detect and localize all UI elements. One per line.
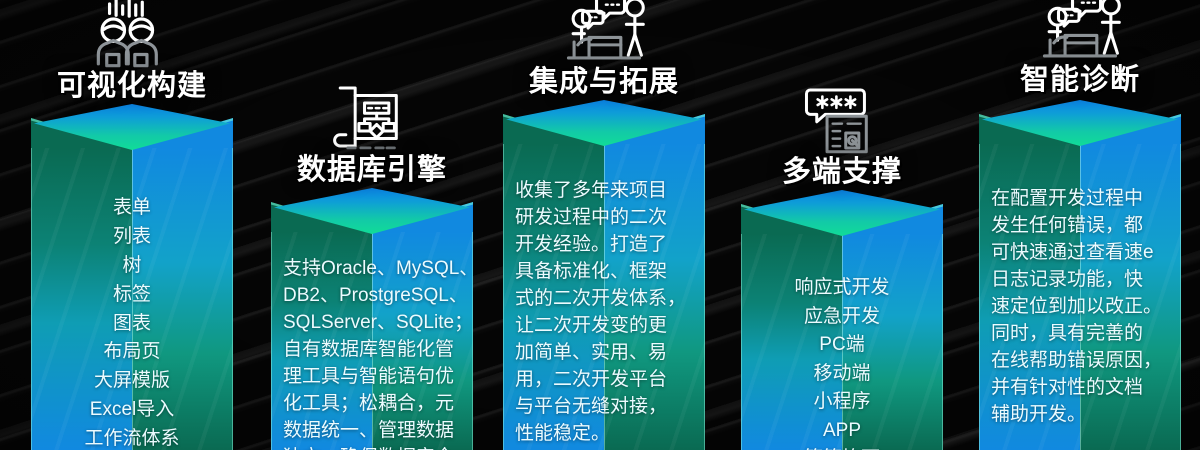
pillars-stage: 可视化构建表单列表树标签图表布局页大屏模版Excel导入工作流体系数据库引擎支持… [0, 0, 1200, 450]
pillar-text-line: 同时，具有完善的 [991, 321, 1169, 348]
pillar-box: 在配置开发过程中发生任何错误，都可快速通过查看速e日志记录功能，快速定位到加以改… [979, 114, 1181, 450]
pillar-text-line: 发生任何错误，都 [991, 213, 1169, 240]
pillar-text-line: 布局页 [43, 338, 221, 367]
pillar-text-line: 加简单、实用、易 [515, 340, 693, 367]
pillar-smart-diagnosis[interactable]: 智能诊断在配置开发过程中发生任何错误，都可快速通过查看速e日志记录功能，快速定位… [970, 0, 1190, 450]
people-chat-desk-icon [561, 0, 647, 66]
pillar-lid-face [274, 188, 470, 234]
pillar-text-block: 响应式开发应急开发PC端移动端小程序APP等等均可 [741, 234, 943, 450]
pillar-box: 响应式开发应急开发PC端移动端小程序APP等等均可 [741, 204, 943, 450]
pillar-text-line: 大屏模版 [43, 367, 221, 396]
pillar-text-line: 在配置开发过程中 [991, 186, 1169, 213]
pillar-lid [34, 104, 230, 150]
pillar-integration-extension[interactable]: 集成与拓展收集了多年来项目研发过程中的二次开发经验。打造了具备标准化、框架式的二… [494, 0, 714, 450]
pillar-text-line: 速定位到加以改正。 [991, 294, 1169, 321]
pillar-text-line: 响应式开发 [753, 274, 931, 303]
pillar-title: 智能诊断 [1020, 56, 1140, 98]
pillar-text-line: 支持Oracle、MySQL、 [283, 256, 461, 283]
pillar-lid-face [982, 100, 1178, 146]
pillar-text-line: SQLServer、SQLite； [283, 310, 461, 337]
pillar-text-line: 独立，确保数据安全。 [283, 445, 461, 450]
pillar-box-body: 响应式开发应急开发PC端移动端小程序APP等等均可 [741, 234, 943, 450]
pillar-text-line: 性能稳定。 [515, 421, 693, 448]
pillar-box: 表单列表树标签图表布局页大屏模版Excel导入工作流体系 [31, 118, 233, 450]
pillar-text-line: 树 [43, 252, 221, 281]
people-chat-desk-icon [1037, 0, 1123, 64]
pillar-lid-face [506, 100, 702, 146]
pillar-title: 可视化构建 [57, 62, 207, 104]
pillar-box: 收集了多年来项目研发过程中的二次开发经验。打造了具备标准化、框架式的二次开发体系… [503, 114, 705, 450]
pillar-visual-build[interactable]: 可视化构建表单列表树标签图表布局页大屏模版Excel导入工作流体系 [22, 0, 242, 450]
pillar-lid [744, 190, 940, 236]
pillar-lid-face [34, 104, 230, 150]
pillar-text-line: 应急开发 [753, 303, 931, 332]
pillar-box-body: 收集了多年来项目研发过程中的二次开发经验。打造了具备标准化、框架式的二次开发体系… [503, 144, 705, 450]
pillar-text-line: 用，二次开发平台 [515, 367, 693, 394]
two-users-icon [89, 0, 175, 70]
pillar-multi-terminal-support[interactable]: 多端支撑响应式开发应急开发PC端移动端小程序APP等等均可 [732, 0, 952, 450]
pillar-text-line: 化工具；松耦合，元 [283, 391, 461, 418]
pillar-text-line: 让二次开发变的更 [515, 313, 693, 340]
pillar-text-block: 收集了多年来项目研发过程中的二次开发经验。打造了具备标准化、框架式的二次开发体系… [503, 144, 705, 448]
pillar-title: 数据库引擎 [297, 146, 447, 188]
pillar-text-block: 表单列表树标签图表布局页大屏模版Excel导入工作流体系 [31, 148, 233, 450]
pillar-text-line: 式的二次开发体系， [515, 286, 693, 313]
pillar-text-line: 理工具与智能语句优 [283, 364, 461, 391]
pillar-text-line: 并有针对性的文档 [991, 375, 1169, 402]
pillar-text-line: 小程序 [753, 388, 931, 417]
pillar-database-engine[interactable]: 数据库引擎支持Oracle、MySQL、DB2、ProstgreSQL、SQLS… [262, 0, 482, 450]
pillar-text-block: 在配置开发过程中发生任何错误，都可快速通过查看速e日志记录功能，快速定位到加以改… [979, 144, 1181, 429]
pillar-box: 支持Oracle、MySQL、DB2、ProstgreSQL、SQLServer… [271, 202, 473, 450]
pillar-text-line: 表单 [43, 194, 221, 223]
pillar-text-line: DB2、ProstgreSQL、 [283, 283, 461, 310]
pillar-text-line: 标签 [43, 281, 221, 310]
pillar-text-line: 日志记录功能，快 [991, 267, 1169, 294]
pillar-title: 多端支撑 [782, 148, 902, 190]
pillar-box-body: 支持Oracle、MySQL、DB2、ProstgreSQL、SQLServer… [271, 232, 473, 450]
pillar-text-line: 移动端 [753, 360, 931, 389]
pillar-text-line: APP [753, 417, 931, 446]
pillar-text-line: 等等均可 [753, 445, 931, 450]
pillar-text-line: 收集了多年来项目 [515, 178, 693, 205]
pillar-text-line: 在线帮助错误原因， [991, 348, 1169, 375]
pillar-text-line: 图表 [43, 310, 221, 339]
pillar-text-line: 辅助开发。 [991, 402, 1169, 429]
pillar-text-line: 具备标准化、框架 [515, 259, 693, 286]
pillar-title: 集成与拓展 [529, 58, 679, 100]
pillar-text-block: 支持Oracle、MySQL、DB2、ProstgreSQL、SQLServer… [271, 232, 473, 450]
password-document-icon [799, 84, 885, 156]
pillar-box-body: 表单列表树标签图表布局页大屏模版Excel导入工作流体系 [31, 148, 233, 450]
pillar-lid [274, 188, 470, 234]
pillar-text-line: 数据统一、管理数据 [283, 418, 461, 445]
pillar-text-line: 可快速通过查看速e [991, 240, 1169, 267]
pillar-text-line: 研发过程中的二次 [515, 205, 693, 232]
pillar-box-body: 在配置开发过程中发生任何错误，都可快速通过查看速e日志记录功能，快速定位到加以改… [979, 144, 1181, 450]
database-diagram-icon [329, 82, 415, 154]
pillar-lid [982, 100, 1178, 146]
pillar-text-line: 工作流体系 [43, 425, 221, 450]
pillar-text-line: 自有数据库智能化管 [283, 337, 461, 364]
pillar-lid-face [744, 190, 940, 236]
pillar-lid [506, 100, 702, 146]
pillar-text-line: 列表 [43, 223, 221, 252]
pillar-text-line: 与平台无缝对接， [515, 394, 693, 421]
pillar-text-line: 开发经验。打造了 [515, 232, 693, 259]
pillar-text-line: Excel导入 [43, 396, 221, 425]
pillar-text-line: PC端 [753, 331, 931, 360]
